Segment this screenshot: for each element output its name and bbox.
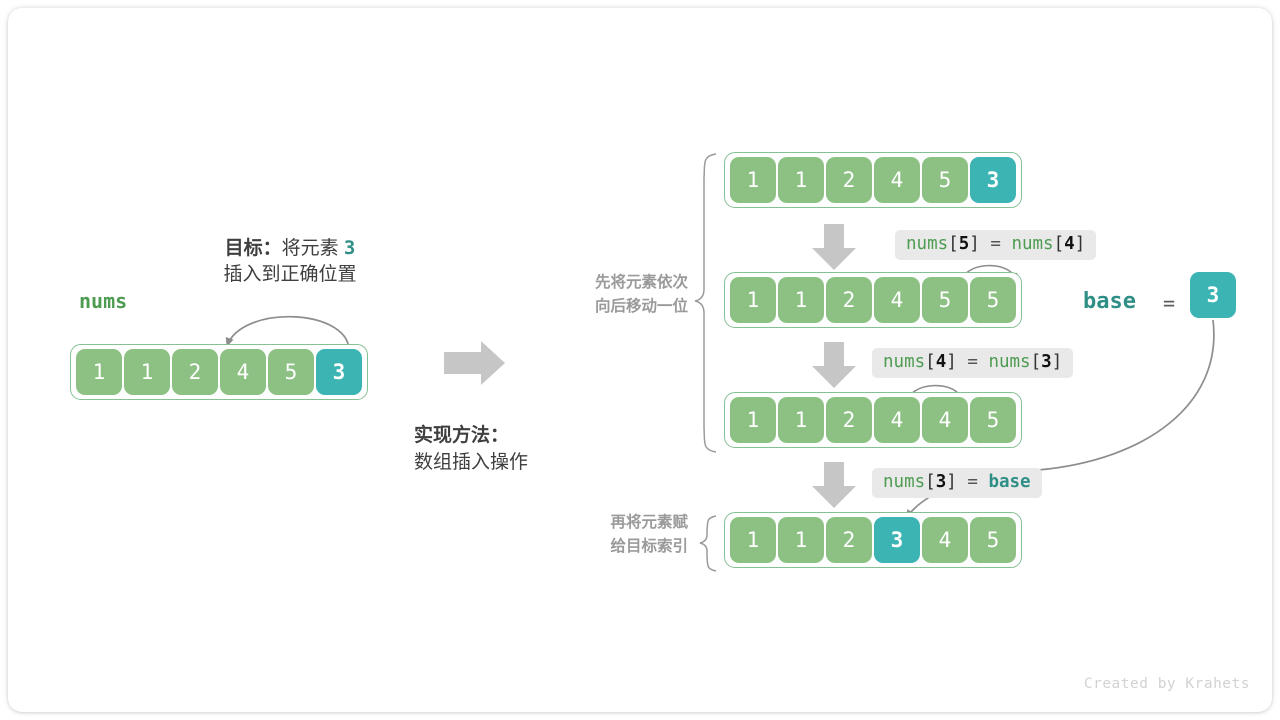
array-cell: 5 [922, 157, 968, 203]
watermark-credit: Created by Krahets [1084, 676, 1250, 692]
goal-label-value: 3 [344, 237, 355, 259]
step-down-arrow-3-icon [812, 462, 856, 508]
diagram-canvas: 目标：将元素 3 插入到正确位置 nums 1 1 2 4 5 3 实现方法： … [8, 8, 1272, 712]
code-step-2: nums[4] = nums[3] [872, 348, 1073, 378]
code-rhs-index: 4 [1064, 234, 1075, 254]
goal-label-line1: 目标：将元素 3 [191, 236, 389, 262]
array-cell: 1 [124, 349, 170, 395]
note-line1: 先将元素依次 [528, 271, 688, 295]
goal-label-line2: 插入到正确位置 [191, 262, 389, 288]
step-down-arrow-1-icon [812, 224, 856, 270]
shift-phase-brace [695, 154, 716, 452]
method-label-line2: 数组插入操作 [414, 450, 528, 477]
step-down-arrow-2-icon [812, 342, 856, 388]
assign-phase-brace [700, 516, 716, 571]
code-lhs-index: 4 [936, 352, 947, 372]
array-cell: 1 [778, 397, 824, 443]
code-equals: = [967, 352, 978, 372]
array-cell: 1 [730, 397, 776, 443]
array-cell: 1 [778, 517, 824, 563]
code-lhs-index: 5 [959, 234, 970, 254]
code-lhs-index: 3 [936, 472, 947, 492]
array-cell: 2 [826, 277, 872, 323]
code-equals: = [990, 234, 1001, 254]
note-shift-elements: 先将元素依次 向后移动一位 [528, 271, 688, 319]
array-cell: 2 [826, 517, 872, 563]
array-cell-highlighted: 3 [874, 517, 920, 563]
array-cell: 1 [730, 517, 776, 563]
note-line2: 向后移动一位 [528, 295, 688, 319]
base-equals-sign: = [1163, 291, 1175, 315]
array-cell: 5 [970, 277, 1016, 323]
source-array: 1 1 2 4 5 3 [70, 344, 368, 400]
code-rhs-variable: base [988, 472, 1030, 492]
array-cell: 5 [922, 277, 968, 323]
array-cell: 1 [778, 157, 824, 203]
array-cell-highlighted: 3 [970, 157, 1016, 203]
flow-right-arrow-icon [444, 341, 505, 385]
code-step-3: nums[3] = base [872, 468, 1042, 498]
array-cell: 2 [826, 397, 872, 443]
array-cell: 1 [76, 349, 122, 395]
code-lhs-name: nums [883, 352, 925, 372]
array-cell: 4 [874, 397, 920, 443]
note-line1: 再将元素赋 [528, 511, 688, 535]
array-cell: 5 [970, 517, 1016, 563]
code-rhs-name: nums [988, 352, 1030, 372]
array-cell: 1 [730, 157, 776, 203]
code-lhs-name: nums [883, 472, 925, 492]
code-step-1: nums[5] = nums[4] [895, 230, 1096, 260]
step3-array: 1 1 2 3 4 5 [724, 512, 1022, 568]
base-variable-label: base [1083, 289, 1136, 314]
note-line2: 给目标索引 [528, 535, 688, 559]
step1-array: 1 1 2 4 5 5 [724, 272, 1022, 328]
code-equals: = [967, 472, 978, 492]
array-cell: 4 [922, 397, 968, 443]
array-cell: 4 [874, 277, 920, 323]
array-cell: 5 [268, 349, 314, 395]
code-rhs-name: nums [1011, 234, 1053, 254]
array-cell: 4 [922, 517, 968, 563]
array-cell-highlighted: 3 [316, 349, 362, 395]
array-cell: 2 [172, 349, 218, 395]
array-cell: 4 [874, 157, 920, 203]
base-value-box: 3 [1190, 272, 1236, 318]
step2-array: 1 1 2 4 4 5 [724, 392, 1022, 448]
nums-variable-label: nums [79, 289, 127, 313]
method-label: 实现方法： 数组插入操作 [414, 423, 528, 476]
code-lhs-name: nums [906, 234, 948, 254]
note-assign-element: 再将元素赋 给目标索引 [528, 511, 688, 559]
array-cell: 1 [778, 277, 824, 323]
array-cell: 4 [220, 349, 266, 395]
array-cell: 1 [730, 277, 776, 323]
step0-array: 1 1 2 4 5 3 [724, 152, 1022, 208]
goal-label-bold: 目标： [225, 238, 282, 259]
array-cell: 2 [826, 157, 872, 203]
code-rhs-index: 3 [1041, 352, 1052, 372]
goal-label: 目标：将元素 3 插入到正确位置 [191, 236, 389, 287]
goal-label-rest: 将元素 [282, 238, 339, 259]
array-cell: 5 [970, 397, 1016, 443]
method-label-line1: 实现方法： [414, 423, 528, 450]
